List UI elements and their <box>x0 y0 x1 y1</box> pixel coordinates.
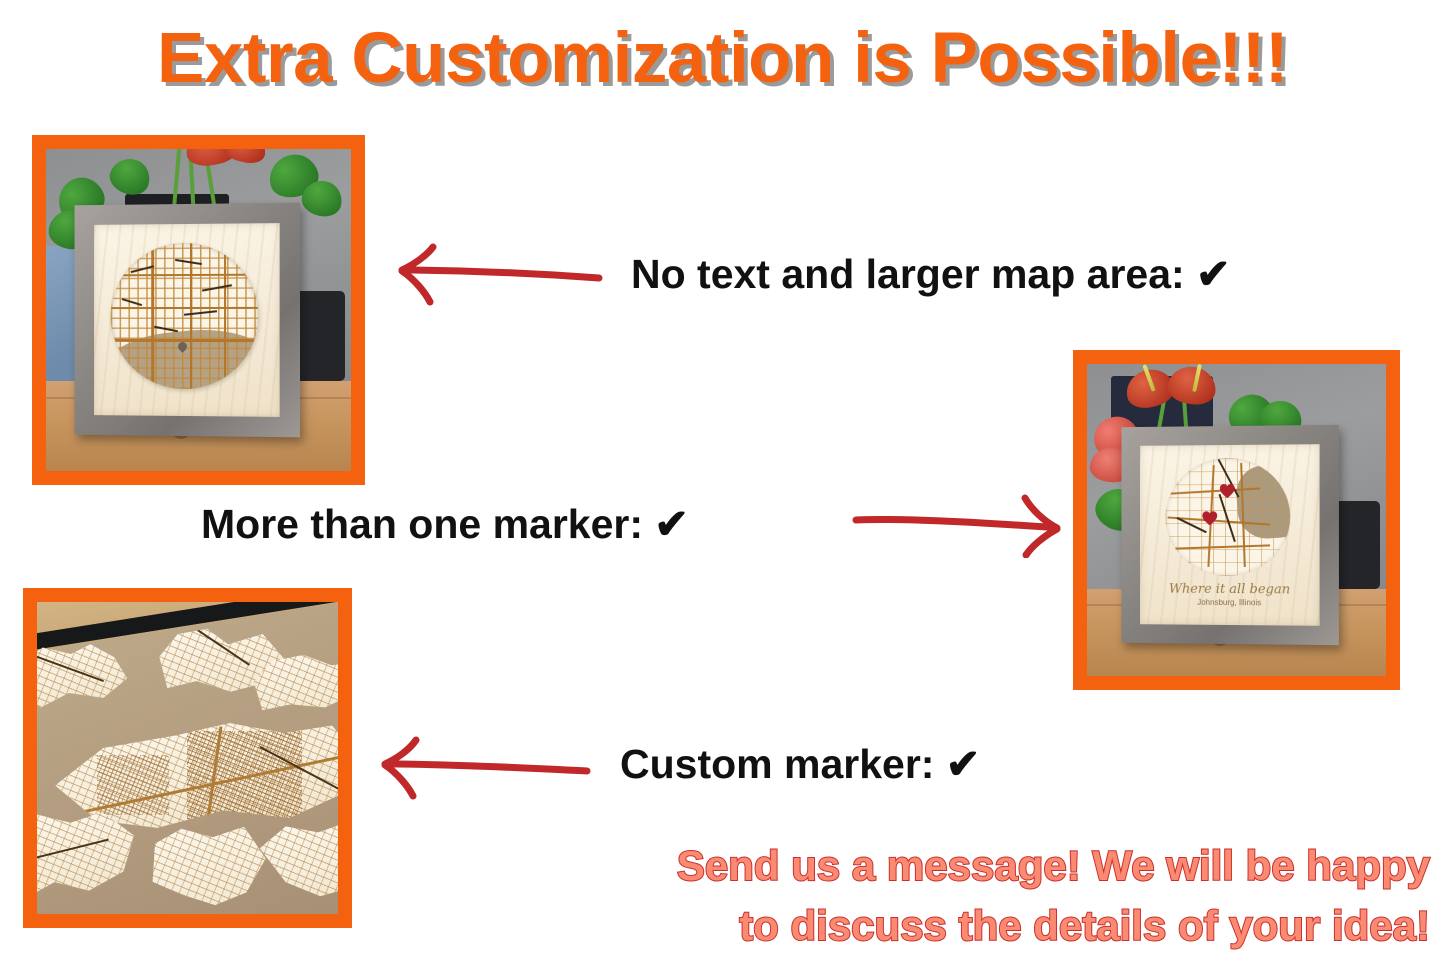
engraved-map-disc <box>111 242 259 389</box>
photo-framed-map-with-hearts: Where it all began Johnsburg, Illinois <box>1087 364 1386 676</box>
contact-message: Send us a message! We will be happy to d… <box>470 836 1430 955</box>
feature-label-more-than-one-marker: More than one marker: ✔ <box>201 500 689 548</box>
photo-card-layered-map-closeup[interactable] <box>23 588 352 928</box>
arrow-right-to-photo-2 <box>851 494 1072 558</box>
birch-panel <box>94 223 280 417</box>
scene-desk <box>46 149 351 471</box>
engraved-subtitle: Johnsburg, Illinois <box>1140 598 1319 608</box>
engraved-title: Where it all began <box>1140 582 1319 598</box>
photo-framed-city-map <box>46 149 351 471</box>
contact-message-line-2: to discuss the details of your idea! <box>470 896 1430 956</box>
picture-frame <box>75 202 300 436</box>
photo-card-framed-city-map[interactable] <box>32 135 365 485</box>
birch-panel: Where it all began Johnsburg, Illinois <box>1140 445 1319 626</box>
scene-desk: Where it all began Johnsburg, Illinois <box>1087 364 1386 676</box>
engraved-map-disc <box>1165 458 1290 577</box>
promo-banner: Extra Customization is Possible!!! <box>0 0 1445 963</box>
scene-closeup <box>37 602 338 914</box>
photo-card-framed-map-with-hearts[interactable]: Where it all began Johnsburg, Illinois <box>1073 350 1400 690</box>
picture-frame: Where it all began Johnsburg, Illinois <box>1121 425 1339 646</box>
arrow-left-to-photo-1 <box>383 240 603 306</box>
contact-message-line-1: Send us a message! We will be happy <box>470 836 1430 896</box>
arrow-left-to-photo-3 <box>365 735 591 801</box>
page-title: Extra Customization is Possible!!! <box>0 18 1445 99</box>
feature-label-no-text-larger-map: No text and larger map area: ✔ <box>631 250 1230 298</box>
feature-label-custom-marker: Custom marker: ✔ <box>620 740 980 788</box>
photo-layered-map-closeup <box>37 602 338 914</box>
